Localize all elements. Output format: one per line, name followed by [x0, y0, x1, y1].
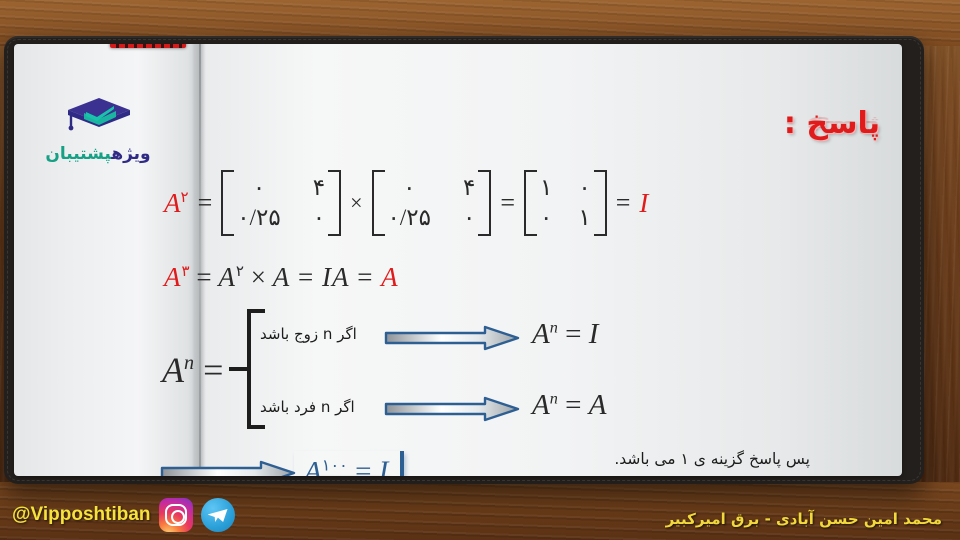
- eq2-a: A: [273, 262, 291, 292]
- social-handle: @Vipposhtiban: [12, 504, 151, 526]
- notebook-cover: ویژهپشتیبان پاسخ : پاسخ : A۲ = ۰ ۴ ۰/۲۵ …: [4, 36, 924, 484]
- eq1-equals-1: =: [196, 188, 215, 218]
- result-odd-value: A: [589, 389, 607, 421]
- graduation-cap-icon: [64, 96, 134, 146]
- eq2-result: A: [381, 262, 399, 292]
- an-base: An: [162, 350, 194, 390]
- brand-logo: ویژهپشتیبان: [40, 96, 156, 174]
- condition-even: اگر n زوج باشد: [260, 325, 357, 343]
- brand-word-secondary: ویژه: [111, 144, 150, 164]
- eq1-equals-2: =: [498, 188, 517, 218]
- matrix-identity-cell-3: ۱: [575, 204, 593, 232]
- eq2-equals-1: =: [196, 262, 211, 292]
- matrix-a-cell-3: ۰: [310, 204, 328, 232]
- result-odd-equals: =: [565, 389, 581, 421]
- result-even-value: I: [589, 318, 599, 350]
- final-base: A۱۰۰: [304, 456, 348, 476]
- eq1-equals-3: =: [614, 188, 633, 218]
- matrix-b: ۰ ۴ ۰/۲۵ ۰: [372, 170, 492, 236]
- arrow-odd: [384, 396, 520, 422]
- condition-odd: اگر n فرد باشد: [260, 398, 355, 416]
- result-even-base: An: [532, 318, 558, 350]
- matrix-identity: ۱ ۰ ۰ ۱: [524, 170, 607, 236]
- equation-line-2: A۳ = A۲ × A = IA = A: [164, 262, 399, 293]
- page-title: پاسخ :: [784, 106, 880, 141]
- notebook-page: ویژهپشتیبان پاسخ : پاسخ : A۲ = ۰ ۴ ۰/۲۵ …: [14, 44, 902, 476]
- matrix-identity-cell-0: ۱: [537, 174, 555, 202]
- right-arrow-icon: [384, 325, 520, 351]
- final-answer-box: A۱۰۰ = I: [294, 451, 404, 476]
- eq1-result: I: [639, 188, 648, 219]
- an-case-label: An =: [162, 349, 223, 391]
- instagram-icon[interactable]: [159, 498, 193, 532]
- eq1-lhs: A۲: [164, 188, 189, 219]
- eq2-a2: A۲: [218, 262, 244, 292]
- result-even: An = I: [532, 318, 598, 351]
- arrow-final: [160, 460, 296, 476]
- slide-canvas: ویژهپشتیبان پاسخ : پاسخ : A۲ = ۰ ۴ ۰/۲۵ …: [0, 0, 960, 540]
- telegram-icon[interactable]: [201, 498, 235, 532]
- equation-line-1: A۲ = ۰ ۴ ۰/۲۵ ۰ × ۰ ۴ ۰/۲۵: [164, 170, 648, 236]
- brand-word-primary: پشتیبان: [45, 144, 111, 164]
- matrix-a-cell-2: ۰/۲۵: [234, 204, 283, 232]
- matrix-identity-cell-2: ۰: [537, 204, 555, 232]
- case-brace: [236, 309, 258, 429]
- right-arrow-icon: [160, 460, 296, 476]
- result-odd: An = A: [532, 389, 606, 422]
- author-credit: محمد امین حسن آبادی - برق امیرکبیر: [666, 510, 942, 528]
- matrix-b-cell-1: ۴: [460, 174, 478, 202]
- final-equals: =: [355, 456, 371, 476]
- conclusion-text: پس پاسخ گزینه ی ۱ می باشد.: [614, 450, 810, 468]
- matrix-b-cell-2: ۰/۲۵: [385, 204, 434, 232]
- eq1-times: ×: [348, 190, 364, 216]
- right-arrow-icon: [384, 396, 520, 422]
- eq2-ia: IA: [322, 262, 349, 292]
- page-spine-line: [199, 44, 201, 476]
- eq2-a3: A۳: [164, 262, 190, 292]
- matrix-identity-cell-1: ۰: [575, 174, 593, 202]
- matrix-a-cell-0: ۰: [234, 174, 283, 202]
- matrix-a: ۰ ۴ ۰/۲۵ ۰: [221, 170, 341, 236]
- eq2-equals-2: =: [298, 262, 314, 292]
- brand-wordmark: ویژهپشتیبان: [40, 144, 156, 164]
- binder-clip-mark-top: [110, 44, 186, 48]
- result-odd-base: An: [532, 389, 558, 421]
- social-links: @Vipposhtiban: [12, 498, 235, 532]
- an-equals: =: [203, 350, 223, 390]
- arrow-even: [384, 325, 520, 351]
- eq2-times: ×: [251, 262, 266, 292]
- matrix-a-cell-1: ۴: [310, 174, 328, 202]
- matrix-b-cell-3: ۰: [460, 204, 478, 232]
- eq2-equals-3: =: [357, 262, 373, 292]
- matrix-b-cell-0: ۰: [385, 174, 434, 202]
- final-value: I: [379, 456, 389, 476]
- result-even-equals: =: [565, 318, 581, 350]
